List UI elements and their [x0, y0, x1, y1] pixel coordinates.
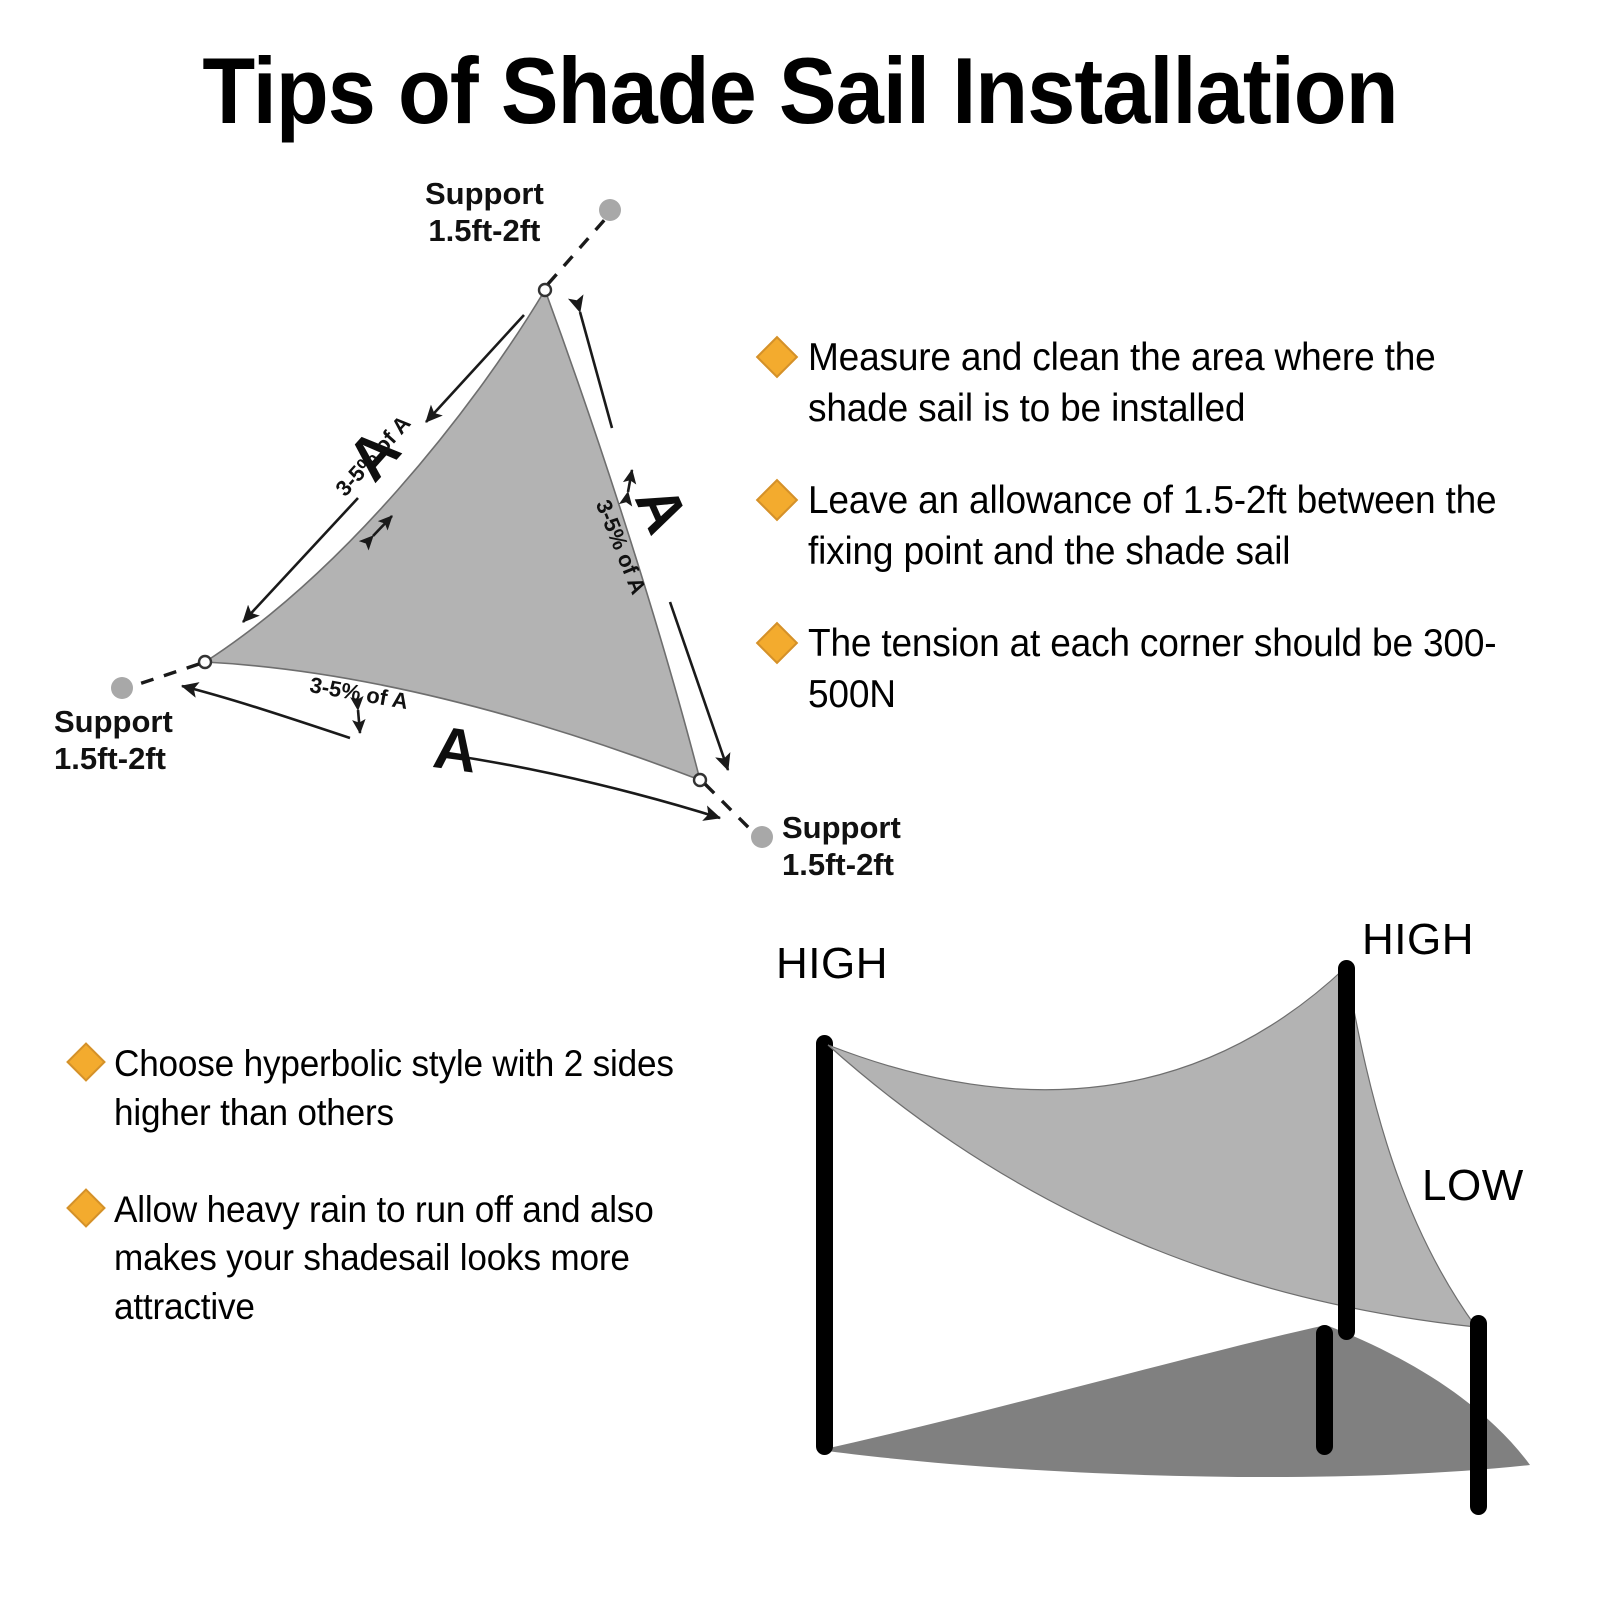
allowance-dash-top	[548, 217, 607, 284]
ground-shadow	[820, 1325, 1530, 1477]
support-label-bottom-left: Support 1.5ft-2ft	[54, 704, 173, 777]
grommet-top	[539, 284, 551, 296]
support-dot-top	[599, 199, 621, 221]
tip-item: Measure and clean the area where the sha…	[762, 332, 1552, 435]
diamond-bullet-icon	[756, 479, 798, 521]
tip-text: Allow heavy rain to run off and also mak…	[114, 1186, 739, 1332]
tip-text: Choose hyperbolic style with 2 sides hig…	[114, 1040, 739, 1138]
label-low: LOW	[1422, 1161, 1524, 1211]
diamond-bullet-icon	[66, 1042, 106, 1082]
diamond-bullet-icon	[66, 1188, 106, 1228]
post-right	[1338, 960, 1355, 1340]
support-label-top-line2: 1.5ft-2ft	[428, 213, 540, 248]
support-label-top-line1: Support	[425, 176, 544, 211]
curvature-depth-right	[628, 470, 632, 492]
tip-item: Choose hyperbolic style with 2 sides hig…	[72, 1040, 772, 1138]
post-left	[816, 1035, 833, 1455]
label-high-right: HIGH	[1362, 915, 1474, 965]
tip-text: The tension at each corner should be 300…	[808, 618, 1515, 721]
support-dot-left	[111, 677, 133, 699]
tip-item: The tension at each corner should be 300…	[762, 618, 1552, 721]
support-label-br-line1: Support	[782, 810, 901, 845]
support-label-bl-line1: Support	[54, 704, 173, 739]
infographic-page: Tips of Shade Sail Installation	[0, 0, 1600, 1600]
triangle-shade-sail-diagram: Support 1.5ft-2ft Support 1.5ft-2ft Supp…	[40, 170, 760, 890]
allowance-dash-right	[705, 784, 753, 832]
support-label-br-line2: 1.5ft-2ft	[782, 847, 894, 882]
grommet-right	[694, 774, 706, 786]
support-label-bl-line2: 1.5ft-2ft	[54, 741, 166, 776]
allowance-dash-left	[133, 664, 199, 686]
tip-item: Allow heavy rain to run off and also mak…	[72, 1186, 772, 1332]
support-label-bottom-right: Support 1.5ft-2ft	[782, 810, 901, 883]
support-label-top: Support 1.5ft-2ft	[425, 176, 544, 249]
hyperbolic-shade-sail-diagram: HIGH HIGH LOW	[770, 905, 1600, 1525]
curvature-depth-bottom	[358, 710, 360, 733]
post-far-right	[1470, 1315, 1487, 1515]
tip-text: Leave an allowance of 1.5-2ft between th…	[808, 475, 1515, 578]
page-title: Tips of Shade Sail Installation	[64, 44, 1536, 138]
label-high-left: HIGH	[776, 939, 888, 989]
tip-item: Leave an allowance of 1.5-2ft between th…	[762, 475, 1552, 578]
post-middle	[1316, 1325, 1333, 1455]
sail-membrane	[828, 967, 1476, 1327]
diamond-bullet-icon	[756, 622, 798, 664]
grommet-left	[199, 656, 211, 668]
tip-text: Measure and clean the area where the sha…	[808, 332, 1515, 435]
tips-list-bottom: Choose hyperbolic style with 2 sides hig…	[72, 1040, 772, 1380]
tips-list-top: Measure and clean the area where the sha…	[762, 332, 1552, 761]
hyperbolic-diagram-svg	[770, 905, 1600, 1525]
support-dot-right	[751, 826, 773, 848]
diamond-bullet-icon	[756, 336, 798, 378]
